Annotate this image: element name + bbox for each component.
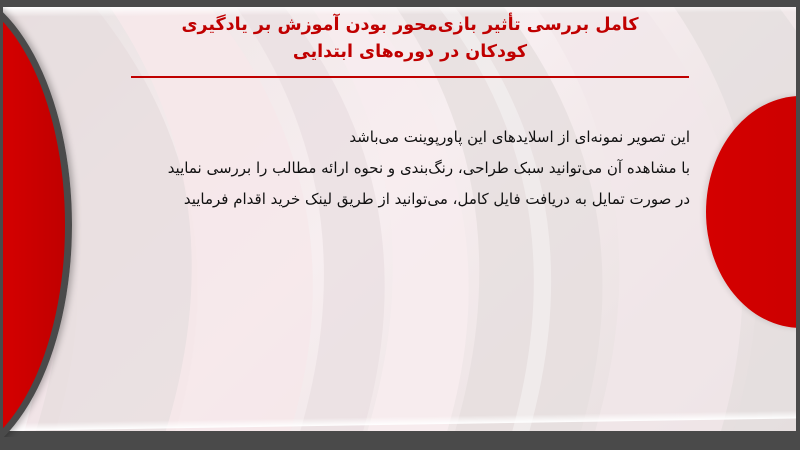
frame-bar-right [796, 0, 800, 450]
slide-title: کامل بررسی تأثیر بازی‌محور بودن آموزش بر… [110, 12, 710, 66]
title-underline-rule [131, 76, 689, 78]
slide-body-line-2: با مشاهده آن می‌توانید سبک طراحی، رنگ‌بن… [90, 153, 690, 184]
slide-body-line-3: در صورت تمایل به دریافت فایل کامل، می‌تو… [90, 184, 690, 215]
frame-bar-top [0, 0, 800, 7]
frame-bar-left [0, 0, 3, 450]
slide-body-line-1: این تصویر نمونه‌ای از اسلایدهای این پاور… [90, 122, 690, 153]
slide-title-line-1: کامل بررسی تأثیر بازی‌محور بودن آموزش بر… [110, 12, 710, 39]
panel-gradient-sheet [0, 7, 800, 431]
frame-bar-bottom [0, 437, 800, 450]
slide-content-panel [0, 7, 800, 431]
slide-body-text: این تصویر نمونه‌ای از اسلایدهای این پاور… [90, 122, 690, 215]
presentation-slide: کامل بررسی تأثیر بازی‌محور بودن آموزش بر… [0, 0, 800, 450]
slide-title-line-2: کودکان در دوره‌های ابتدایی [110, 39, 710, 66]
